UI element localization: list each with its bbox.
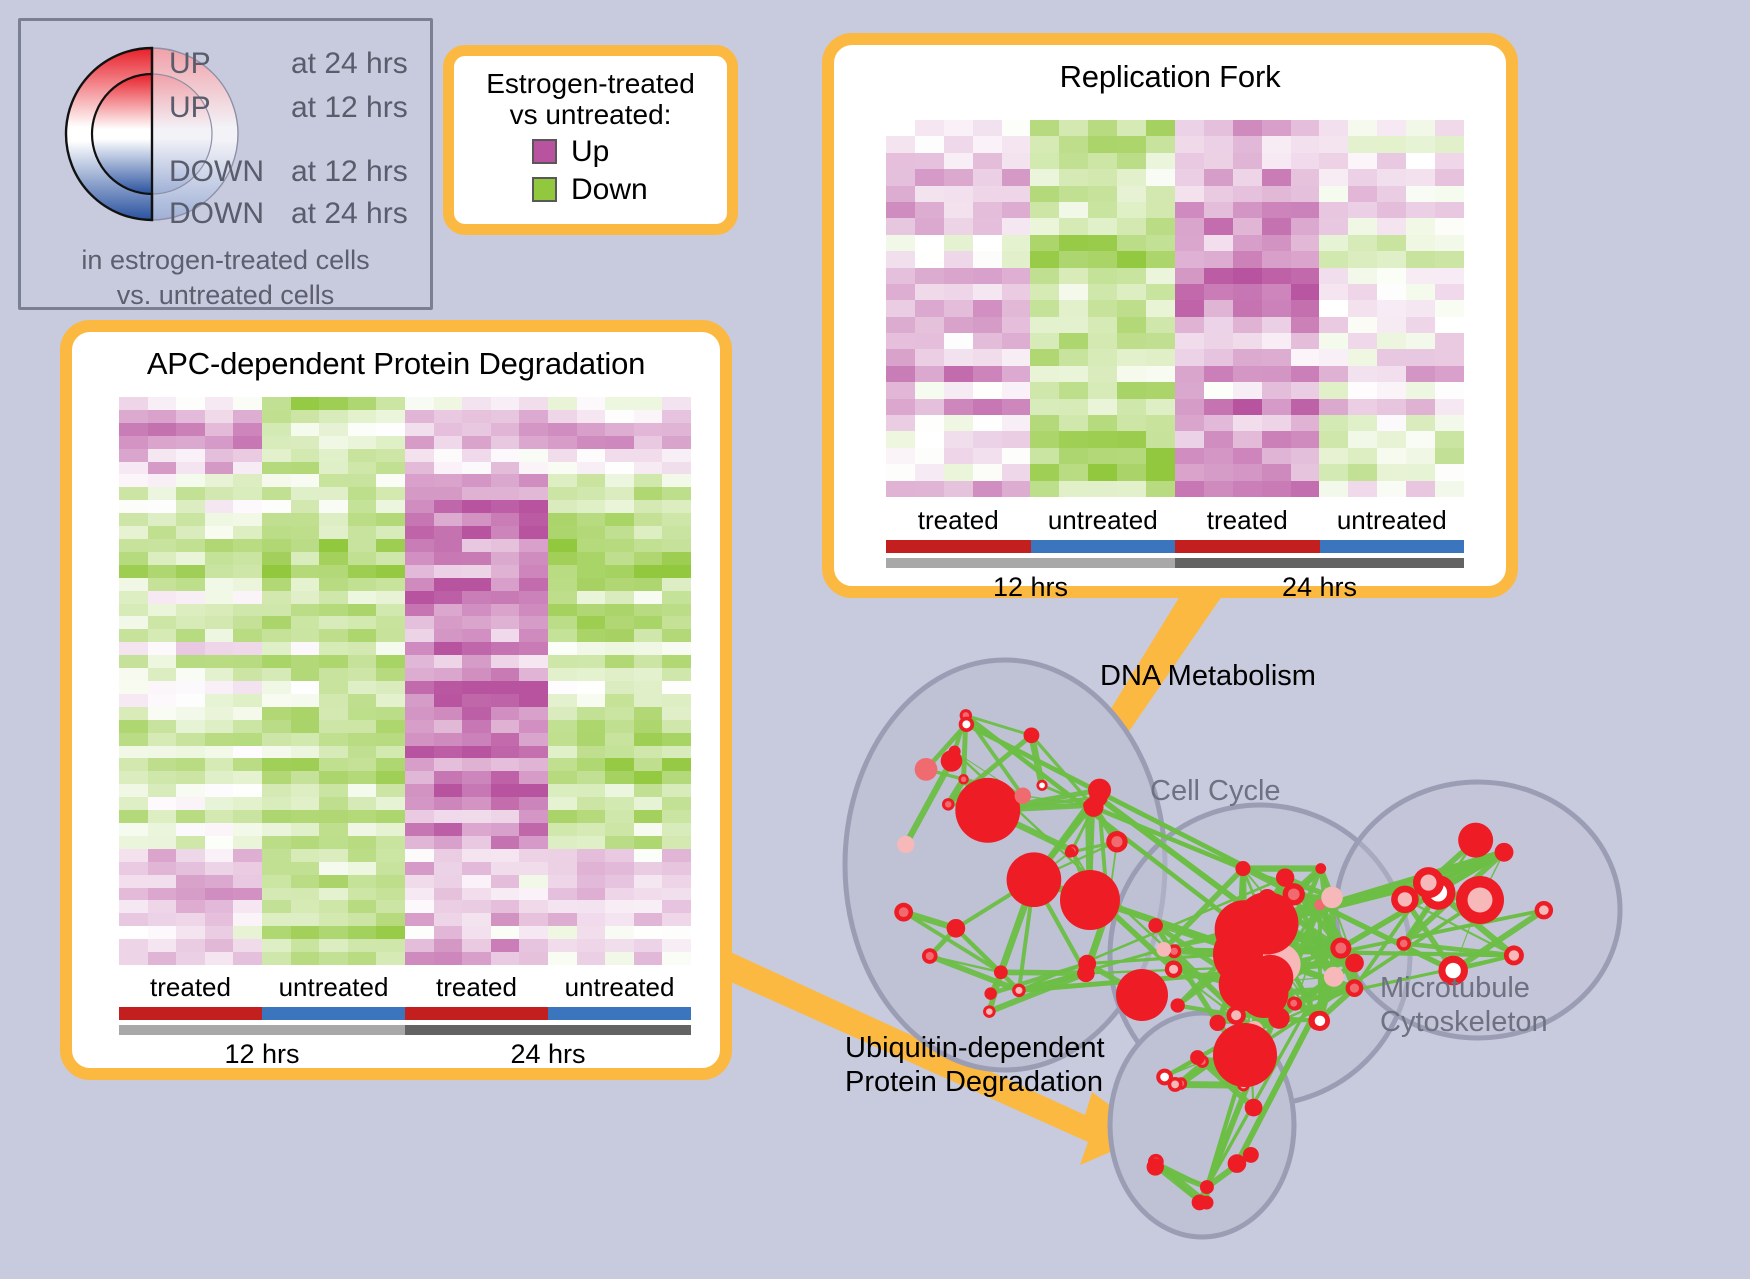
heatmap-cell (262, 616, 291, 629)
heatmap-cell (1059, 382, 1088, 398)
heatmap-cell (1030, 431, 1059, 447)
network-node[interactable] (983, 1005, 996, 1018)
heatmap-cell (1435, 136, 1464, 152)
heatmap-cell (291, 668, 320, 681)
heatmap-cell (148, 578, 177, 591)
heatmap-cell (1088, 284, 1117, 300)
heatmap-cell (605, 707, 634, 720)
heatmap-cell (148, 939, 177, 952)
heatmap-cell (291, 423, 320, 436)
heatmap-cell (519, 849, 548, 862)
heatmap-cell (348, 784, 377, 797)
network-node[interactable] (1456, 876, 1504, 924)
heatmap-cell (915, 448, 944, 464)
network-node[interactable] (1310, 1011, 1330, 1031)
heatmap-cell (262, 436, 291, 449)
heatmap-cell (348, 449, 377, 462)
heatmap-cell (1146, 202, 1175, 218)
heatmap-cell (462, 423, 491, 436)
heatmap-cell (491, 758, 520, 771)
heatmap-cell (605, 758, 634, 771)
heatmap-cell (1117, 153, 1146, 169)
heatmap-cell (1233, 333, 1262, 349)
heatmap-cell (1319, 202, 1348, 218)
heatmap-cell (1002, 251, 1031, 267)
network-node[interactable] (1245, 1099, 1263, 1117)
heatmap-cell (1059, 202, 1088, 218)
heatmap-cell (319, 733, 348, 746)
heatmap-cell (605, 591, 634, 604)
network-node[interactable] (1007, 852, 1062, 907)
heatmap-cell (233, 526, 262, 539)
network-node[interactable] (1243, 1147, 1259, 1163)
network-node[interactable] (1012, 984, 1026, 998)
heatmap-cell (319, 810, 348, 823)
heatmap-cell (319, 604, 348, 617)
heatmap-cell (291, 681, 320, 694)
heatmap-cell (291, 746, 320, 759)
heatmap-cell (1002, 268, 1031, 284)
heatmap-cell (491, 810, 520, 823)
network-node[interactable] (955, 778, 1020, 843)
heatmap-cell (119, 487, 148, 500)
heatmap-cell (176, 436, 205, 449)
heatmap-cell (1262, 464, 1291, 480)
heatmap-cell (944, 333, 973, 349)
heatmap-cell (577, 797, 606, 810)
network-node[interactable] (1065, 847, 1075, 857)
heatmap-cell (348, 552, 377, 565)
heatmap-cell (262, 784, 291, 797)
heatmap-cell (548, 436, 577, 449)
network-node[interactable] (1147, 1158, 1164, 1175)
heatmap-cell (915, 120, 944, 136)
heatmap-cell (1435, 268, 1464, 284)
heatmap-cell (1117, 481, 1146, 497)
network-node[interactable] (1116, 969, 1168, 1021)
heatmap-cell (434, 720, 463, 733)
heatmap-cell (205, 733, 234, 746)
heatmap-cell (886, 136, 915, 152)
heatmap-cell (634, 655, 663, 668)
network-node[interactable] (1346, 979, 1364, 997)
heatmap-cell (434, 578, 463, 591)
heatmap-cell (1377, 120, 1406, 136)
heatmap-cell (1435, 349, 1464, 365)
heatmap-cell (319, 900, 348, 913)
heatmap-cell (291, 758, 320, 771)
heatmap-cell (262, 668, 291, 681)
heatmap-cell (319, 423, 348, 436)
heatmap-cell (634, 900, 663, 913)
heatmap-cell (548, 771, 577, 784)
heatmap-cell (462, 849, 491, 862)
heatmap-cell (1291, 153, 1320, 169)
heatmap-cell (1348, 268, 1377, 284)
heatmap-cell (405, 616, 434, 629)
heatmap-cell (348, 733, 377, 746)
heatmap-cell (462, 436, 491, 449)
heatmap-cell (205, 410, 234, 423)
heatmap-cell (605, 629, 634, 642)
heatmap-cell (291, 474, 320, 487)
heatmap-cell (1146, 382, 1175, 398)
heatmap-cell (577, 539, 606, 552)
heatmap-cell (1348, 349, 1377, 365)
heatmap-cell (262, 926, 291, 939)
bar-24hrs (405, 1025, 691, 1035)
heatmap-cell (634, 707, 663, 720)
heatmap-cell (1233, 169, 1262, 185)
network-node[interactable] (1084, 797, 1104, 817)
heatmap-cell (348, 836, 377, 849)
heatmap-cell (319, 436, 348, 449)
heatmap-cell (148, 513, 177, 526)
heatmap-cell (405, 604, 434, 617)
heatmap-cell (1030, 317, 1059, 333)
heatmap-cell (1030, 349, 1059, 365)
heatmap-cell (262, 797, 291, 810)
heatmap-cell (262, 604, 291, 617)
heatmap-cell (548, 616, 577, 629)
heatmap-cell (1377, 431, 1406, 447)
heatmap-cell (1262, 235, 1291, 251)
network-node[interactable] (1156, 942, 1171, 957)
heatmap-cell (262, 642, 291, 655)
heatmap-cell (1175, 284, 1204, 300)
network-node[interactable] (1015, 788, 1032, 805)
network-node[interactable] (1495, 843, 1514, 862)
heatmap-cell (348, 565, 377, 578)
heatmap-cell (634, 474, 663, 487)
network-node[interactable] (1276, 868, 1294, 886)
heatmap-cell (1175, 169, 1204, 185)
heatmap-cell (662, 629, 691, 642)
cluster-label-line2: Cytoskeleton (1380, 1006, 1548, 1040)
heatmap-cell (605, 539, 634, 552)
heatmap-cell (1030, 333, 1059, 349)
group-color-bar-replication-fork (886, 540, 1464, 553)
heatmap-cell (491, 784, 520, 797)
heatmap-cell (634, 784, 663, 797)
heatmap-cell (1233, 382, 1262, 398)
heatmap-cell (176, 629, 205, 642)
heatmap-cell (119, 449, 148, 462)
heatmap-cell (1030, 300, 1059, 316)
network-node[interactable] (1236, 892, 1299, 955)
network-node[interactable] (984, 987, 996, 999)
heatmap-cell (434, 875, 463, 888)
heatmap-cell (1291, 349, 1320, 365)
heatmap-cell (148, 707, 177, 720)
network-node[interactable] (1165, 960, 1182, 977)
heatmap-cell (434, 565, 463, 578)
heatmap-cell (291, 875, 320, 888)
group-label: treated (1175, 505, 1320, 536)
heatmap-cell (1233, 415, 1262, 431)
heatmap-cell (491, 823, 520, 836)
colorbar-time: at 24 hrs (291, 49, 408, 79)
heatmap-cell (262, 565, 291, 578)
network-node[interactable] (1156, 1069, 1173, 1086)
heatmap-cell (519, 474, 548, 487)
network-node[interactable] (1024, 727, 1040, 743)
heatmap-cell (519, 900, 548, 913)
heatmap-cell (1204, 317, 1233, 333)
heatmap-cell (1348, 202, 1377, 218)
heatmap-cell (119, 926, 148, 939)
heatmap-cell (634, 552, 663, 565)
heatmap-cell (605, 900, 634, 913)
heatmap-cell (1291, 169, 1320, 185)
heatmap-cell (262, 888, 291, 901)
network-node[interactable] (1235, 861, 1250, 876)
heatmap-cell (944, 153, 973, 169)
heatmap-cell (319, 410, 348, 423)
network-node[interactable] (947, 919, 966, 938)
heatmap-cell (1406, 349, 1435, 365)
heatmap-cell (1204, 235, 1233, 251)
network-node[interactable] (1060, 870, 1120, 930)
network-node[interactable] (1391, 886, 1419, 914)
network-node[interactable] (1504, 945, 1524, 965)
heatmap-cell (405, 410, 434, 423)
network-node[interactable] (897, 836, 914, 853)
heatmap-cell (605, 939, 634, 952)
heatmap-cell (205, 474, 234, 487)
heatmap-cell (662, 758, 691, 771)
heatmap-cell (434, 952, 463, 965)
heatmap-cell (662, 913, 691, 926)
heatmap-cell (434, 513, 463, 526)
network-node[interactable] (1148, 918, 1163, 933)
heatmap-cell (605, 746, 634, 759)
network-node[interactable] (1192, 1194, 1208, 1210)
heatmap-cell (1002, 481, 1031, 497)
heatmap-cell (434, 629, 463, 642)
heatmap-cell (148, 836, 177, 849)
heatmap-cell (1204, 218, 1233, 234)
network-node[interactable] (1209, 1015, 1225, 1031)
heatmap-cell (1002, 382, 1031, 398)
network-node[interactable] (1190, 1050, 1205, 1065)
heatmap-cell (148, 410, 177, 423)
heatmap-cell (1291, 218, 1320, 234)
heatmap-cell (176, 733, 205, 746)
heatmap-cell (1204, 448, 1233, 464)
heatmap-cell (1030, 251, 1059, 267)
heatmap-cell (1291, 136, 1320, 152)
heatmap-cell (119, 668, 148, 681)
heatmap-cell (519, 784, 548, 797)
heatmap-cell (1059, 251, 1088, 267)
network-node[interactable] (942, 798, 955, 811)
heatmap-cell (205, 707, 234, 720)
network-node[interactable] (1036, 780, 1047, 791)
network-node[interactable] (1396, 936, 1411, 951)
heatmap-cell (1059, 120, 1088, 136)
heatmap-cell (491, 952, 520, 965)
heatmap-cell (1319, 284, 1348, 300)
heatmap-cell (491, 552, 520, 565)
heatmap-cell (548, 926, 577, 939)
heatmap-cell (348, 513, 377, 526)
heatmap-cell (1088, 317, 1117, 333)
heatmap-cell (1262, 300, 1291, 316)
heatmap-cell (1377, 317, 1406, 333)
heatmap-cell (119, 939, 148, 952)
network-node[interactable] (1106, 831, 1127, 852)
heatmap-cell (1233, 300, 1262, 316)
network-node[interactable] (1330, 938, 1351, 959)
heatmap-cell (662, 604, 691, 617)
heatmap-cell (405, 591, 434, 604)
heatmap-cell (519, 462, 548, 475)
heatmap-cell (886, 349, 915, 365)
colorbar-row-up-24: UP at 24 hrs (169, 49, 408, 79)
heatmap-cell (662, 578, 691, 591)
heatmap-cell (319, 913, 348, 926)
heatmap-cell (915, 382, 944, 398)
heatmap-cell (1233, 235, 1262, 251)
heatmap-cell (915, 333, 944, 349)
heatmap-cell (1291, 251, 1320, 267)
network-node[interactable] (959, 717, 974, 732)
heatmap-cell (205, 462, 234, 475)
heatmap-cell (434, 849, 463, 862)
group-labels-replication-fork: treated untreated treated untreated (886, 505, 1464, 536)
heatmap-cell (1291, 186, 1320, 202)
heatmap-cell (577, 694, 606, 707)
heatmap-cell (519, 565, 548, 578)
network-node[interactable] (915, 758, 938, 781)
network-node[interactable] (894, 903, 913, 922)
heatmap-cell (577, 436, 606, 449)
heatmap-cell (291, 926, 320, 939)
heatmap-cell (1117, 120, 1146, 136)
heatmap-cell (462, 578, 491, 591)
heatmap-cell (1435, 153, 1464, 169)
heatmap-cell (1262, 251, 1291, 267)
network-node[interactable] (1458, 823, 1493, 858)
heatmap-cell (491, 746, 520, 759)
heatmap-cell (319, 397, 348, 410)
heatmap-cell (519, 487, 548, 500)
heatmap-cell (462, 487, 491, 500)
heatmap-cell (605, 862, 634, 875)
network-svg (790, 600, 1750, 1279)
heatmap-cell (491, 733, 520, 746)
heatmap-cell (1204, 284, 1233, 300)
heatmap-cell (148, 926, 177, 939)
heatmap-cell (205, 642, 234, 655)
heatmap-cell (1059, 235, 1088, 251)
heatmap-cell (491, 591, 520, 604)
network-node[interactable] (1345, 954, 1364, 973)
heatmap-cell (491, 926, 520, 939)
network-node[interactable] (949, 746, 961, 758)
heatmap-cell (1030, 399, 1059, 415)
heatmap-cell (605, 604, 634, 617)
heatmap-cell (577, 474, 606, 487)
heatmap-cell (1175, 464, 1204, 480)
network-node[interactable] (1171, 998, 1185, 1012)
heatmap-cell (233, 952, 262, 965)
heatmap-cell (634, 758, 663, 771)
heatmap-cell (634, 952, 663, 965)
panel-title-replication-fork: Replication Fork (834, 59, 1506, 95)
heatmap-cell (1204, 431, 1233, 447)
heatmap-cell (405, 500, 434, 513)
heatmap-cell (519, 810, 548, 823)
heatmap-cell (233, 629, 262, 642)
heatmap-cell (1435, 431, 1464, 447)
heatmap-cell (1377, 464, 1406, 480)
network-node[interactable] (1213, 1023, 1277, 1087)
network-node[interactable] (994, 965, 1008, 979)
network-node[interactable] (1324, 967, 1344, 987)
heatmap-cell (1377, 136, 1406, 152)
network-node[interactable] (1315, 863, 1326, 874)
heatmap-cell (233, 888, 262, 901)
heatmap-cell (1204, 399, 1233, 415)
network-node[interactable] (1287, 997, 1300, 1010)
heatmap-cell (405, 423, 434, 436)
network-node[interactable] (1227, 1006, 1246, 1025)
network-node[interactable] (958, 774, 968, 784)
heatmap-cell (1406, 481, 1435, 497)
heatmap-cell (291, 952, 320, 965)
network-node[interactable] (1321, 887, 1343, 909)
heatmap-cell (605, 926, 634, 939)
heatmap-cell (376, 591, 405, 604)
heatmap-cell (634, 591, 663, 604)
heatmap-cell (233, 823, 262, 836)
heatmap-cell (1002, 169, 1031, 185)
network-node[interactable] (1413, 867, 1444, 898)
network-node[interactable] (1078, 955, 1096, 973)
heatmap-cell (1233, 268, 1262, 284)
bar-untreated-24 (548, 1007, 691, 1020)
heatmap-cell (915, 251, 944, 267)
heatmap-cell (944, 300, 973, 316)
heatmap-cell (1117, 366, 1146, 382)
heatmap-cell (577, 410, 606, 423)
heatmap-cell (376, 681, 405, 694)
network-node[interactable] (1200, 1180, 1214, 1194)
group-label: untreated (262, 972, 405, 1003)
heatmap-cell (148, 462, 177, 475)
heatmap-cell (148, 913, 177, 926)
heatmap-cell (1233, 202, 1262, 218)
heatmap-cell (1348, 399, 1377, 415)
heatmap-cell (405, 771, 434, 784)
network-node[interactable] (1268, 1008, 1289, 1029)
heatmap-cell (319, 462, 348, 475)
network-node[interactable] (922, 948, 938, 964)
heatmap-cell (577, 875, 606, 888)
heatmap-cell (886, 333, 915, 349)
heatmap-cell (577, 926, 606, 939)
heatmap-cell (348, 926, 377, 939)
heatmap-cell (291, 900, 320, 913)
network-node[interactable] (1535, 901, 1553, 919)
heatmap-cell (548, 900, 577, 913)
heatmap-cell (262, 758, 291, 771)
heatmap-cell (176, 913, 205, 926)
heatmap-cell (405, 436, 434, 449)
heatmap-cell (577, 733, 606, 746)
